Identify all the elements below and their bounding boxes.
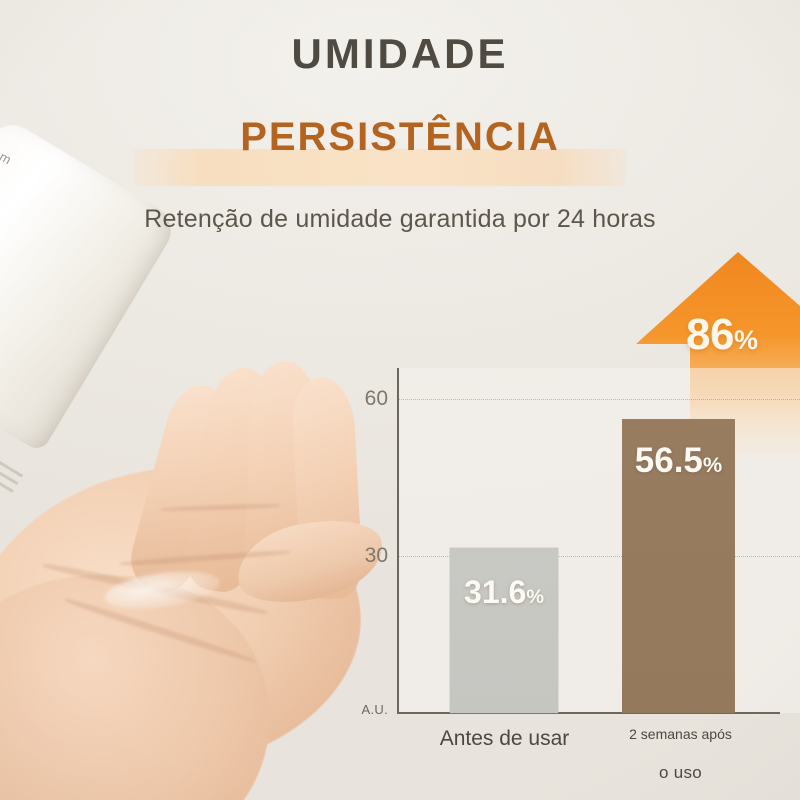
bar-value-label: 56.5% xyxy=(622,441,735,481)
poster-root: m UMIDADE PERSISTÊNCIA Retenção de umida… xyxy=(0,0,800,800)
page-tagline: Retenção de umidade garantida por 24 hor… xyxy=(0,205,800,234)
x-axis-category-label: 2 semanas após o uso xyxy=(608,727,753,782)
y-axis-line xyxy=(397,368,399,713)
y-axis-tick-label: 30 xyxy=(340,544,388,568)
percent-symbol: % xyxy=(703,452,722,477)
y-axis-tick-label: 60 xyxy=(340,387,388,411)
y-axis-unit-label: A.U. xyxy=(340,702,388,717)
increase-value: 86 xyxy=(686,310,734,359)
bar-chart: 60 30 A.U. 31.6% 56.5% Antes de usar 2 s… xyxy=(340,355,800,800)
percent-symbol: % xyxy=(734,325,758,355)
bar-value: 31.6 xyxy=(464,574,526,610)
bar-value: 56.5 xyxy=(635,441,703,480)
page-title: UMIDADE xyxy=(0,30,800,78)
page-subtitle: PERSISTÊNCIA xyxy=(0,115,800,160)
bar-antes-de-usar[interactable]: 31.6% xyxy=(450,548,558,713)
gridline-60 xyxy=(398,399,800,400)
bar-value-label: 31.6% xyxy=(450,574,558,611)
bar-2-semanas-apos-o-uso[interactable]: 56.5% xyxy=(622,419,735,714)
x-axis-category-line1: 2 semanas após xyxy=(629,726,732,742)
cap-rib xyxy=(0,433,19,485)
x-axis-category-label: Antes de usar xyxy=(412,727,597,751)
percent-symbol: % xyxy=(526,586,544,608)
x-axis-category-line2: o uso xyxy=(608,764,753,782)
increase-percentage: 86% xyxy=(686,310,757,360)
